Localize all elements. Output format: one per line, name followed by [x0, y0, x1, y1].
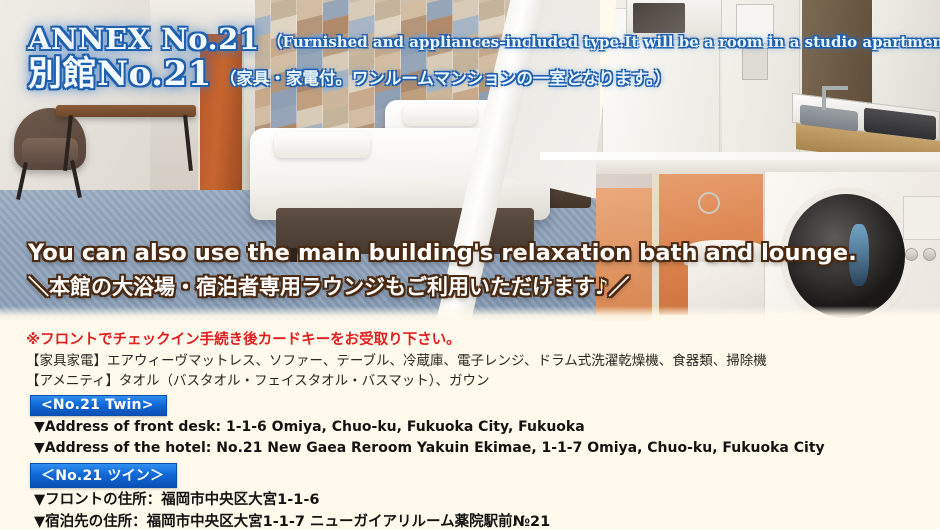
towel-ring-icon	[698, 192, 720, 214]
room-type-badge-jp: ＜No.21 ツイン＞	[30, 463, 177, 488]
room-type-badge-jp-wrap: ＜No.21 ツイン＞	[26, 459, 940, 489]
checkin-note: ※フロントでチェックイン手続き後カードキーをお受取り下さい。	[26, 330, 940, 351]
promo-banner-page: ANNEX No.21 （Furnished and appliances-in…	[0, 0, 940, 529]
room-type-badge-en: <No.21 Twin>	[30, 395, 167, 416]
room-type-badge-en-wrap: <No.21 Twin>	[26, 391, 940, 417]
front-desk-address-en: ▼Address of front desk: 1-1-6 Omiya, Chu…	[26, 417, 940, 438]
amenity-list: 【アメニティ】タオル（バスタオル・フェイスタオル・バスマット）、ガウン	[26, 371, 940, 391]
pillow	[403, 104, 477, 126]
front-desk-address-jp: ▼フロントの住所：福岡市中央区大宮1-1-6	[26, 489, 940, 511]
info-panel: ※フロントでチェックイン手続き後カードキーをお受取り下さい。 【家具家電】エアウ…	[0, 322, 940, 529]
washer-knob	[905, 248, 918, 261]
washer-knob	[923, 248, 936, 261]
title-english-note: （Furnished and appliances-included type.…	[268, 31, 940, 55]
title-japanese-note: （家具・家電付。ワンルームマンションの一室となります。）	[220, 65, 671, 93]
title-overlay: ANNEX No.21 （Furnished and appliances-in…	[28, 24, 940, 93]
mid-banner-overlay: You can also use the main building's rel…	[28, 240, 857, 301]
washer-control-panel	[903, 196, 940, 240]
armchair	[14, 108, 86, 170]
collage-bottom-fade	[0, 306, 940, 322]
furniture-list: 【家具家電】エアウィーヴマットレス、ソファー、テーブル、冷蔵庫、電子レンジ、ドラ…	[26, 351, 940, 371]
title-japanese: 別館No.21	[28, 55, 212, 93]
mid-banner-japanese: ＼本館の大浴場・宿泊者専用ラウンジもご利用いただけます♪／	[28, 271, 857, 301]
mid-banner-english: You can also use the main building's rel…	[28, 240, 857, 266]
title-english: ANNEX No.21	[28, 24, 260, 55]
pillow	[274, 132, 370, 158]
photo-divider-horizontal	[540, 152, 940, 160]
hotel-address-en: ▼Address of the hotel: No.21 New Gaea Re…	[26, 438, 940, 459]
title-row-english: ANNEX No.21 （Furnished and appliances-in…	[28, 24, 940, 55]
title-row-japanese: 別館No.21 （家具・家電付。ワンルームマンションの一室となります。）	[28, 55, 940, 93]
desk-table	[56, 105, 196, 117]
hotel-address-jp: ▼宿泊先の住所：福岡市中央区大宮1-1-7 ニューガイアリルーム薬院駅前№21	[26, 511, 940, 529]
